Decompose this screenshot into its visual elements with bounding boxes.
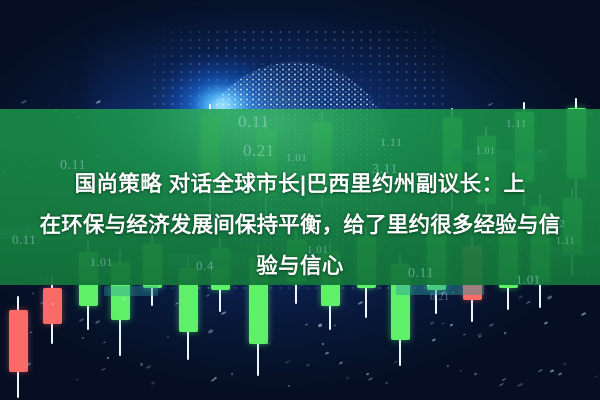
candlestick-body (43, 288, 62, 324)
candlestick-body (9, 310, 28, 372)
headline-line-1: 国尚策略 对话全球市长|巴西里约州副议长：上 (0, 164, 600, 205)
thumbnail-image: 0.110.211.011.113.110.111.010.110.41.011… (0, 0, 600, 400)
page-title: 国尚策略 对话全球市长|巴西里约州副议长：上 在环保与经济发展间保持平衡，给了里… (0, 164, 600, 287)
headline-line-2: 在环保与经济发展间保持平衡，给了里约很多经验与信 (0, 205, 600, 246)
ribbon-bar (104, 286, 158, 296)
candlestick (9, 296, 28, 398)
headline-line-3: 验与信心 (0, 246, 600, 287)
